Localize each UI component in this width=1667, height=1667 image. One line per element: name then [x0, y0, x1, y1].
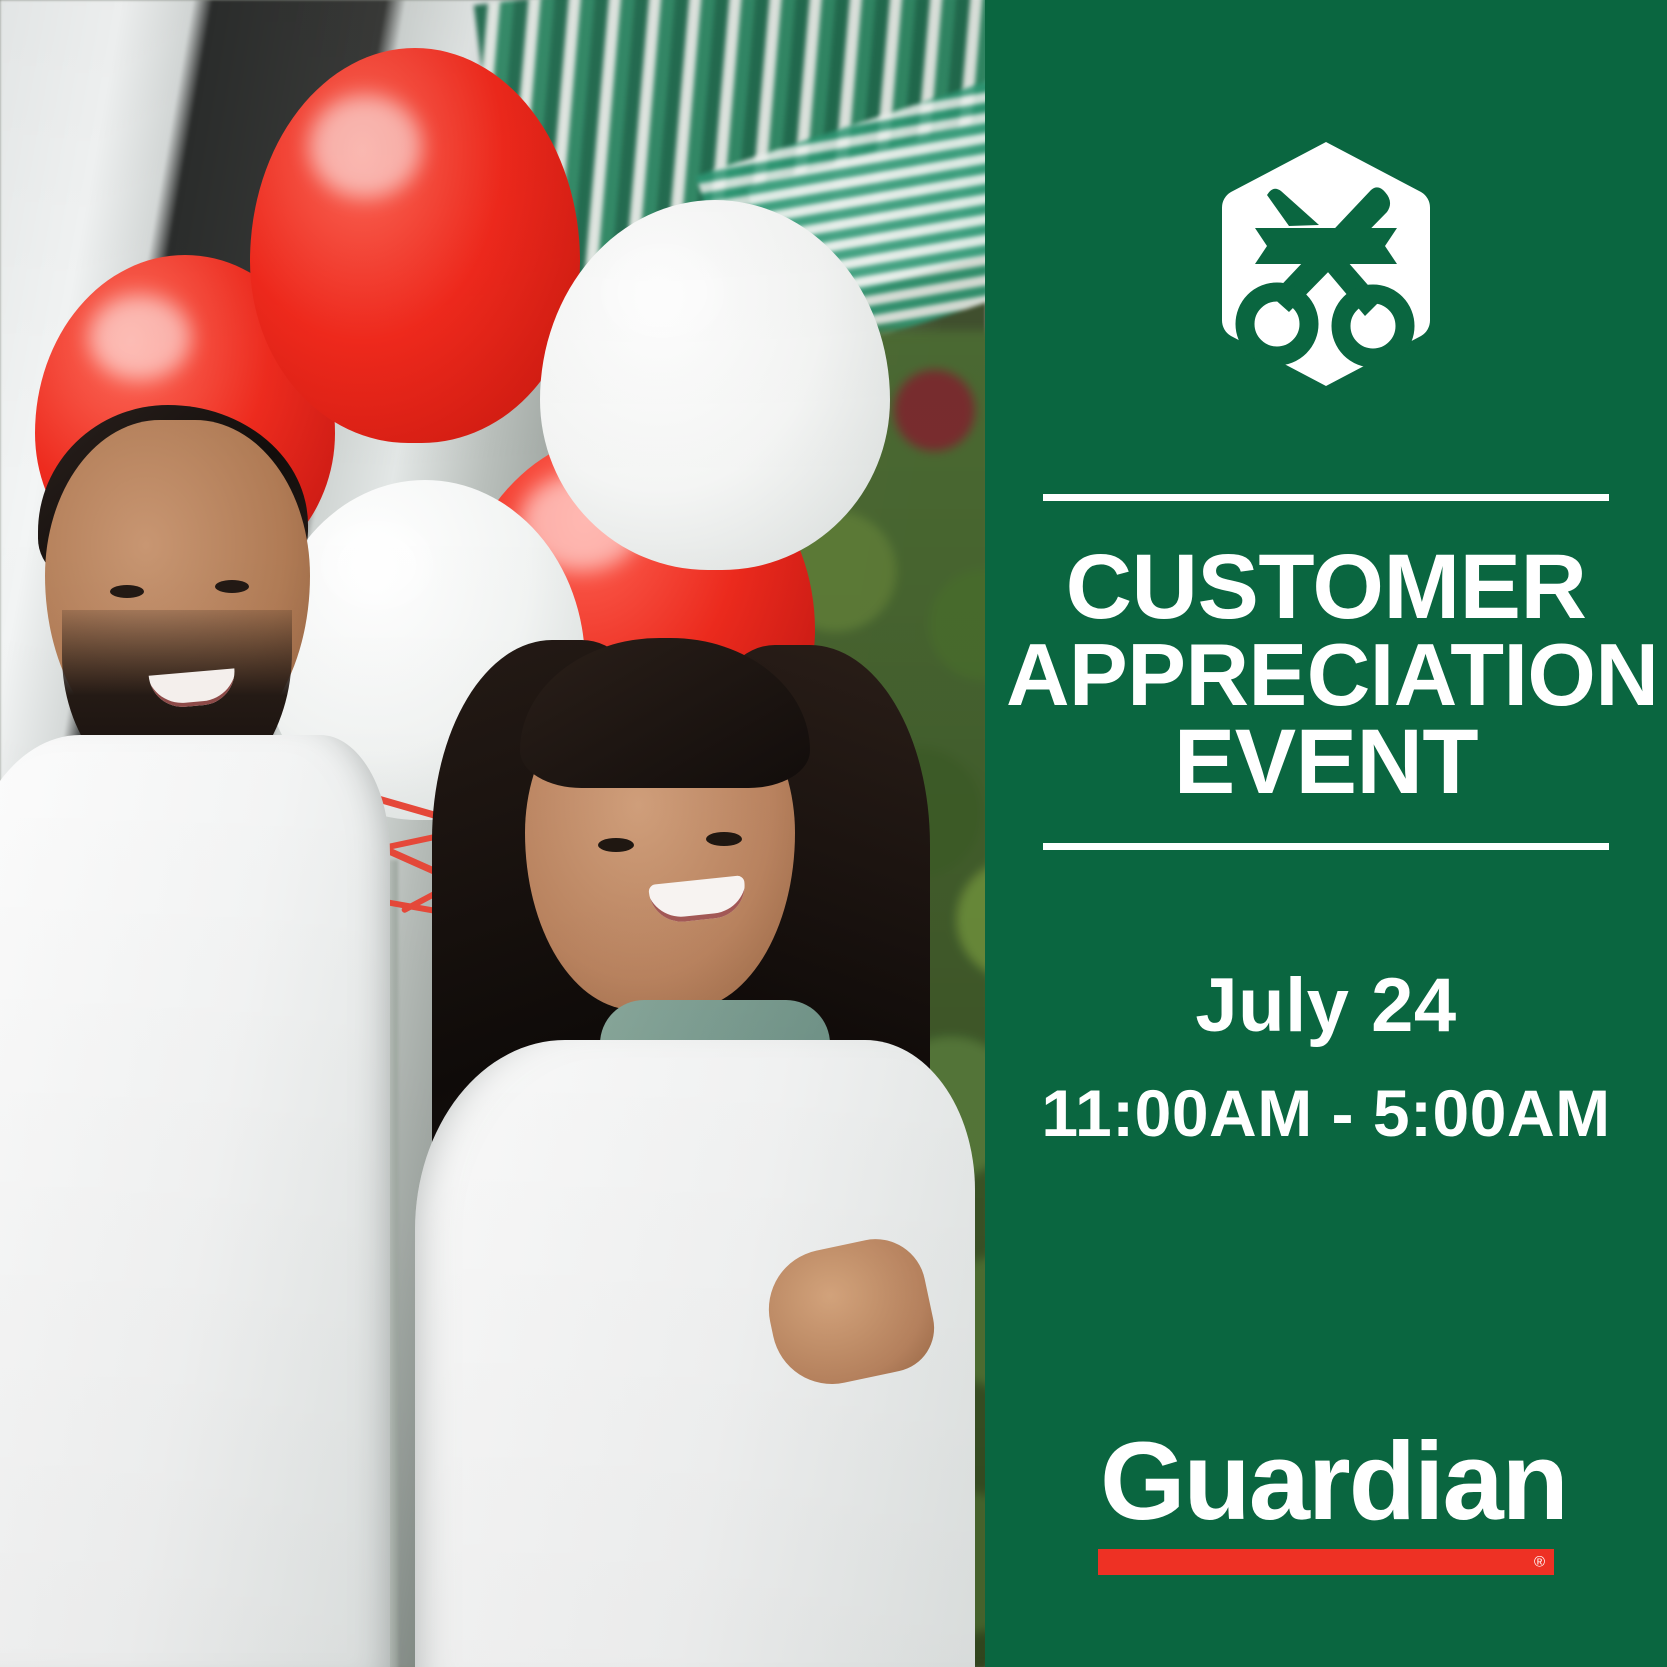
guardian-logo-bar: ®: [1098, 1549, 1554, 1575]
registered-trademark-icon: ®: [1534, 1555, 1545, 1570]
guardian-logo: Guardian ®: [1098, 1427, 1554, 1575]
male-pharmacist-eye-right: [215, 580, 249, 593]
male-pharmacist-lab-coat: [0, 735, 390, 1667]
hero-photo: [0, 0, 985, 1667]
headline-line-1: CUSTOMER: [1006, 543, 1646, 632]
headline-line-3: EVENT: [1006, 718, 1646, 807]
female-pharmacist-eye-right: [706, 832, 742, 846]
event-time: 11:00AM - 5:00AM: [1041, 1080, 1610, 1146]
info-panel: CUSTOMER APPRECIATION EVENT July 24 11:0…: [985, 0, 1667, 1667]
ribbon-cutting-scissors-icon: [1215, 140, 1437, 388]
event-date: July 24: [1195, 968, 1456, 1044]
female-pharmacist-eye-left: [598, 838, 634, 852]
divider-top: [1043, 494, 1609, 501]
customer-appreciation-event-poster: CUSTOMER APPRECIATION EVENT July 24 11:0…: [0, 0, 1667, 1667]
divider-bottom: [1043, 843, 1609, 850]
headline-line-2: APPRECIATION: [1006, 632, 1646, 717]
page-title: CUSTOMER APPRECIATION EVENT: [1006, 501, 1646, 807]
guardian-wordmark: Guardian: [1098, 1427, 1554, 1537]
male-pharmacist-eye-left: [110, 585, 144, 598]
